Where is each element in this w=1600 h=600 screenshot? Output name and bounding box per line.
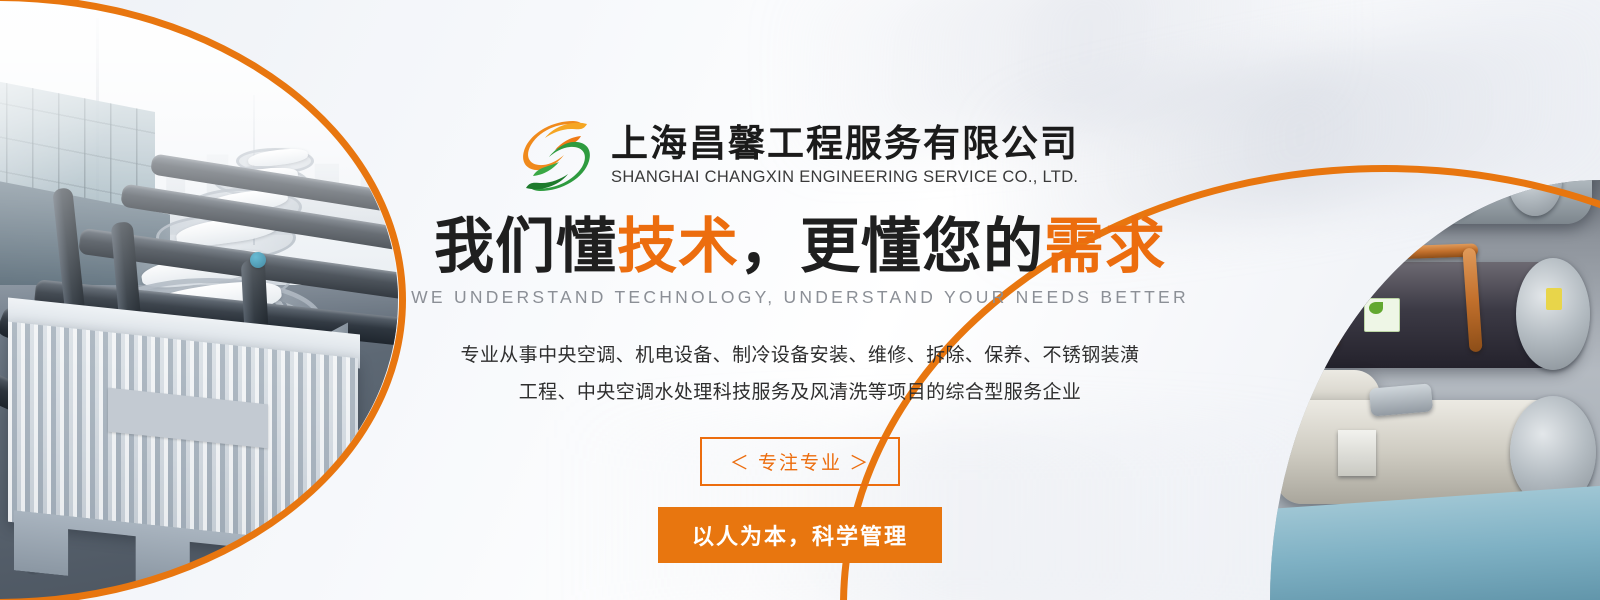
- headline-part2: ，更懂您的: [739, 213, 1044, 280]
- left-photo-rooftop-cooling-towers: [0, 0, 420, 600]
- brand-lockup: 上海昌馨工程服务有限公司 SHANGHAI CHANGXIN ENGINEERI…: [521, 118, 1079, 192]
- headline: 我们懂技术，更懂您的需求: [434, 216, 1166, 278]
- focus-professional-button[interactable]: ＜ 专注专业 ＞: [700, 437, 901, 486]
- headline-highlight-technology: 技术: [617, 213, 739, 280]
- headline-highlight-needs: 需求: [1044, 213, 1166, 280]
- company-name-en: SHANGHAI CHANGXIN ENGINEERING SERVICE CO…: [611, 168, 1079, 187]
- s-swoosh-logo-icon: [521, 118, 593, 192]
- banner-content: 上海昌馨工程服务有限公司 SHANGHAI CHANGXIN ENGINEERI…: [420, 0, 1180, 600]
- description: 专业从事中央空调、机电设备、制冷设备安装、维修、拆除、保养、不锈钢装潢 工程、中…: [460, 337, 1139, 411]
- company-name-cn: 上海昌馨工程服务有限公司: [611, 123, 1079, 164]
- promo-banner: 上海昌馨工程服务有限公司 SHANGHAI CHANGXIN ENGINEERI…: [0, 0, 1600, 600]
- description-line-1: 专业从事中央空调、机电设备、制冷设备安装、维修、拆除、保养、不锈钢装潢: [460, 337, 1139, 374]
- headline-subtitle-en: WE UNDERSTAND TECHNOLOGY, UNDERSTAND YOU…: [411, 287, 1189, 308]
- headline-part1: 我们懂: [434, 213, 617, 280]
- right-photo-chiller-units: [1180, 0, 1600, 600]
- description-line-2: 工程、中央空调水处理科技服务及风清洗等项目的综合型服务企业: [460, 374, 1139, 411]
- people-oriented-management-button[interactable]: 以人为本，科学管理: [658, 507, 942, 563]
